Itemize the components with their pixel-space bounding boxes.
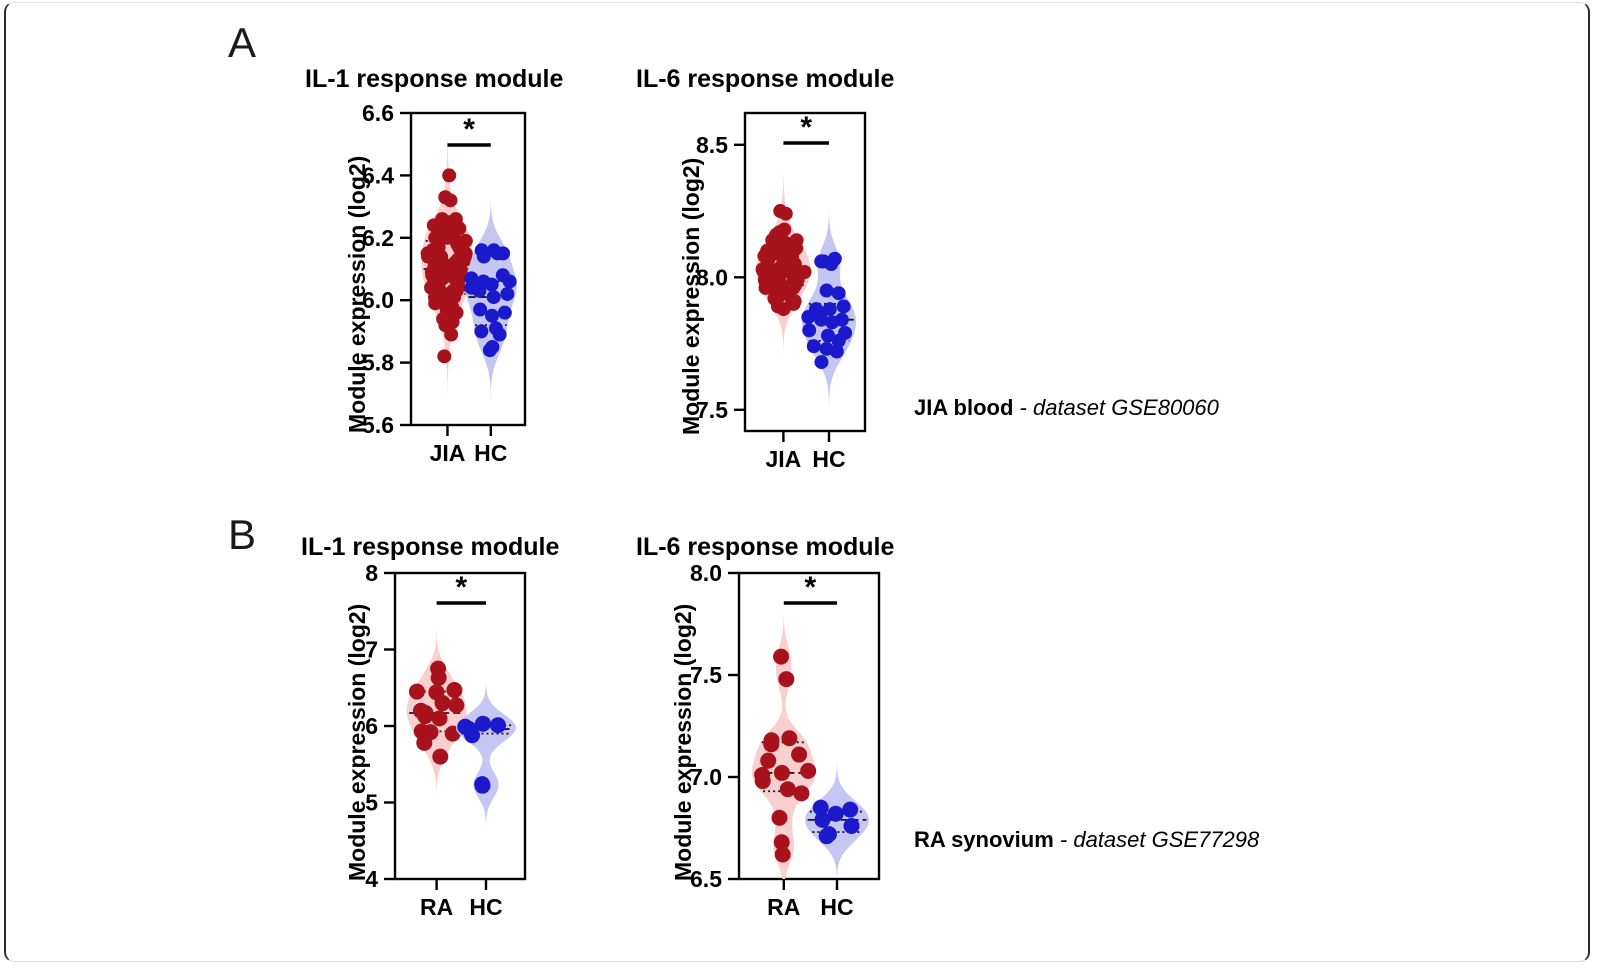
- data-point: [442, 168, 456, 182]
- x-tick-label-HC: HC: [474, 440, 507, 466]
- data-point: [763, 736, 779, 752]
- data-point: [819, 828, 835, 844]
- panel-a-caption: JIA blood - dataset GSE80060: [914, 395, 1219, 421]
- y-tick-label: 7.0: [690, 764, 722, 790]
- y-tick-label: 6: [365, 713, 378, 739]
- violin-svg: 5.65.86.06.26.46.6JIAHC*: [351, 113, 595, 495]
- figure-frame: A IL-1 response module Module expression…: [4, 2, 1590, 962]
- data-point: [755, 773, 771, 789]
- x-tick-label-HC: HC: [469, 894, 502, 920]
- x-tick-label-JIA: JIA: [766, 446, 802, 472]
- data-point: [842, 802, 858, 818]
- x-tick-label-RA: RA: [420, 894, 453, 920]
- y-tick-label: 5.6: [362, 412, 394, 438]
- data-point: [444, 328, 458, 342]
- data-point: [431, 670, 447, 686]
- data-point: [760, 753, 776, 769]
- y-tick-label: 7: [365, 637, 378, 663]
- data-point: [774, 765, 790, 781]
- data-point: [464, 727, 480, 743]
- panel-b-caption-bold: RA synovium: [914, 827, 1054, 852]
- data-point: [474, 778, 490, 794]
- data-point: [830, 345, 844, 359]
- violin-svg: 7.58.08.5JIAHC*: [685, 113, 935, 501]
- data-point: [802, 323, 816, 337]
- plot-title-b2: IL-6 response module: [636, 533, 894, 562]
- data-point: [446, 682, 462, 698]
- data-point: [837, 299, 851, 313]
- panel-a-caption-bold: JIA blood: [914, 395, 1013, 420]
- x-tick-label-HC: HC: [812, 446, 845, 472]
- data-point: [485, 309, 499, 323]
- y-tick-label: 8.0: [696, 264, 728, 290]
- data-point: [448, 697, 464, 713]
- data-point: [473, 303, 487, 317]
- data-point: [503, 274, 517, 288]
- y-tick-label: 4: [365, 866, 378, 892]
- data-point: [807, 339, 821, 353]
- data-point: [490, 717, 506, 733]
- data-point: [844, 818, 860, 834]
- panel-a-caption-italic: - dataset GSE80060: [1020, 395, 1219, 420]
- y-tick-label: 7.5: [690, 662, 722, 688]
- panel-letter-b: B: [228, 511, 256, 559]
- y-tick-label: 8: [365, 560, 378, 586]
- panel-b-caption-italic: - dataset GSE77298: [1060, 827, 1259, 852]
- data-point: [773, 649, 789, 665]
- data-point: [491, 246, 505, 260]
- data-point: [775, 847, 791, 863]
- x-tick-label-HC: HC: [820, 894, 853, 920]
- x-tick-label-RA: RA: [767, 894, 800, 920]
- data-point: [777, 302, 791, 316]
- y-tick-label: 7.5: [696, 397, 728, 423]
- y-tick-label: 6.5: [690, 866, 722, 892]
- data-point: [417, 708, 433, 724]
- data-point: [778, 671, 794, 687]
- data-point: [432, 749, 448, 765]
- significance-asterisk: *: [463, 113, 475, 146]
- significance-asterisk: *: [805, 571, 817, 604]
- data-point: [416, 735, 432, 751]
- data-point: [485, 278, 499, 292]
- y-tick-label: 8.0: [690, 560, 722, 586]
- data-point: [801, 310, 815, 324]
- violin-svg: 6.57.07.58.0RAHC*: [677, 573, 947, 949]
- y-tick-label: 6.2: [362, 225, 394, 251]
- data-point: [474, 324, 488, 338]
- data-point: [820, 284, 834, 298]
- y-tick-label: 5: [365, 790, 378, 816]
- plot-title-a1: IL-1 response module: [305, 65, 563, 94]
- data-point: [487, 290, 501, 304]
- data-point: [824, 257, 838, 271]
- data-point: [779, 207, 793, 221]
- data-point: [780, 781, 796, 797]
- data-point: [443, 193, 457, 207]
- data-point: [483, 343, 497, 357]
- panel-b-caption: RA synovium - dataset GSE77298: [914, 827, 1259, 853]
- y-tick-label: 8.5: [696, 132, 728, 158]
- y-tick-label: 6.6: [362, 100, 394, 126]
- data-point: [832, 286, 846, 300]
- data-point: [800, 763, 816, 779]
- data-point: [437, 349, 451, 363]
- data-point: [472, 284, 486, 298]
- data-point: [498, 306, 512, 320]
- data-point: [793, 785, 809, 801]
- significance-asterisk: *: [800, 111, 812, 144]
- significance-asterisk: *: [455, 571, 467, 604]
- data-point: [771, 810, 787, 826]
- x-tick-label-JIA: JIA: [430, 440, 466, 466]
- data-point: [825, 315, 839, 329]
- panel-letter-a: A: [228, 19, 256, 67]
- data-point: [791, 747, 807, 763]
- data-point: [435, 695, 451, 711]
- plot-title-a2: IL-6 response module: [636, 65, 894, 94]
- y-tick-label: 6.4: [362, 162, 394, 188]
- data-point: [477, 250, 491, 264]
- data-point: [500, 287, 514, 301]
- y-tick-label: 5.8: [362, 350, 394, 376]
- data-point: [409, 684, 425, 700]
- violin-svg: 45678RAHC*: [351, 573, 611, 949]
- y-tick-label: 6.0: [362, 287, 394, 313]
- data-point: [493, 328, 507, 342]
- data-point: [432, 710, 448, 726]
- plot-title-b1: IL-1 response module: [301, 533, 559, 562]
- data-point: [814, 812, 830, 828]
- data-point: [781, 730, 797, 746]
- data-point: [814, 355, 828, 369]
